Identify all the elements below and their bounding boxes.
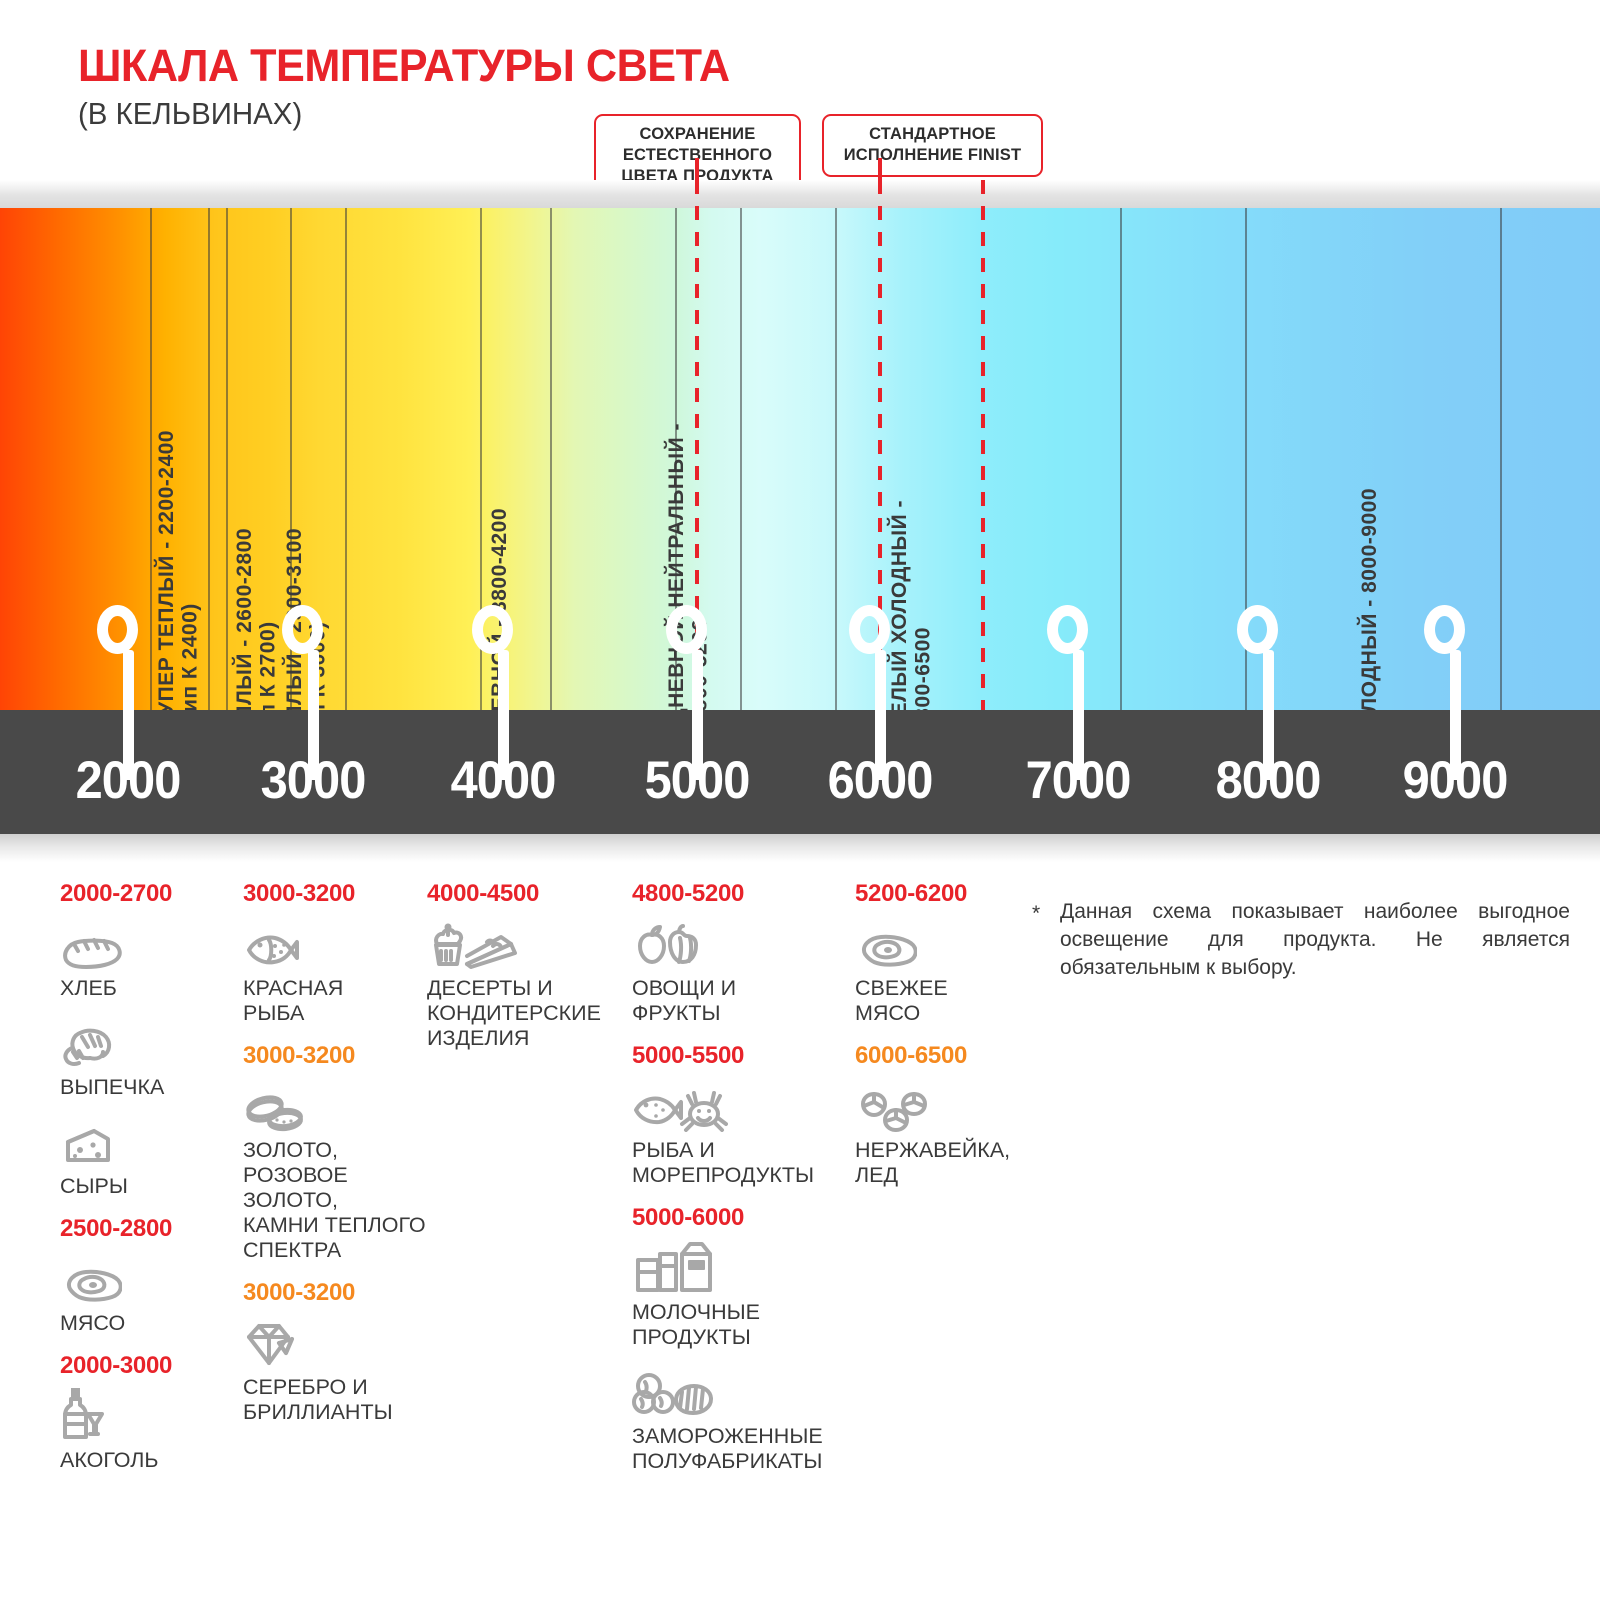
kelvin-range-label: 2000-2700 bbox=[60, 880, 240, 908]
product-label: НЕРЖАВЕЙКА, ЛЕД bbox=[855, 1138, 1045, 1188]
footnote-text: Данная схема показывает наиболее выгодно… bbox=[1060, 900, 1570, 979]
temperature-scale-band: СУПЕР ТЕПЛЫЙ - 2200-2400 (тип К 2400)ТЕП… bbox=[0, 180, 1600, 862]
diamond-icon bbox=[243, 1317, 433, 1369]
band-divider bbox=[1500, 208, 1502, 710]
legend-group: 3000-3200СЕРЕБРО И БРИЛЛИАНТЫ bbox=[243, 1279, 433, 1425]
band-divider bbox=[1120, 208, 1122, 710]
fish-seafood-icon bbox=[632, 1080, 850, 1132]
footnote: * Данная схема показывает наиболее выгод… bbox=[1060, 898, 1570, 982]
legend-group: 5200-6200СВЕЖЕЕ МЯСО bbox=[855, 880, 1045, 1026]
kelvin-range-label: 4000-4500 bbox=[427, 880, 627, 908]
legend-group: 2000-3000АКОГОЛЬ bbox=[60, 1352, 240, 1473]
croissant-icon bbox=[60, 1017, 240, 1069]
tick-label-3000: 3000 bbox=[249, 750, 378, 811]
kelvin-range-label: 2000-3000 bbox=[60, 1352, 240, 1380]
tick-label-6000: 6000 bbox=[816, 750, 945, 811]
product-legend: 2000-2700ХЛЕБВЫПЕЧКАСЫРЫ2500-2800МЯСО200… bbox=[0, 880, 1600, 1600]
product-label: ХЛЕБ bbox=[60, 976, 240, 1001]
kelvin-range-label: 4800-5200 bbox=[632, 880, 850, 908]
kelvin-range-label: 5200-6200 bbox=[855, 880, 1045, 908]
legend-group: 4800-5200ОВОЩИ И ФРУКТЫ bbox=[632, 880, 850, 1026]
legend-group: 2500-2800МЯСО bbox=[60, 1215, 240, 1336]
band-divider bbox=[208, 208, 210, 710]
tick-label-7000: 7000 bbox=[1014, 750, 1143, 811]
product-label: МОЛОЧНЫЕ ПРОДУКТЫ bbox=[632, 1300, 850, 1350]
tick-ring bbox=[1424, 605, 1465, 654]
product-label: АКОГОЛЬ bbox=[60, 1448, 240, 1473]
product-label: ДЕСЕРТЫ И КОНДИТЕРСКИЕ ИЗДЕЛИЯ bbox=[427, 976, 627, 1051]
product-label: ОВОЩИ И ФРУКТЫ bbox=[632, 976, 850, 1026]
tick-ring bbox=[282, 605, 323, 654]
product-label: СЕРЕБРО И БРИЛЛИАНТЫ bbox=[243, 1375, 433, 1425]
band-label-5: БЕЛЫЙ ХОЛОДНЫЙ - 5800-6500 bbox=[888, 500, 935, 732]
legend-column-4: 5200-6200СВЕЖЕЕ МЯСО6000-6500НЕРЖАВЕЙКА,… bbox=[855, 880, 1045, 1204]
legend-group: 5000-6000МОЛОЧНЫЕ ПРОДУКТЫЗАМОРОЖЕННЫЕ П… bbox=[632, 1204, 850, 1474]
legend-group: 2000-2700ХЛЕБВЫПЕЧКАСЫРЫ bbox=[60, 880, 240, 1199]
legend-column-2: 4000-4500ДЕСЕРТЫ И КОНДИТЕРСКИЕ ИЗДЕЛИЯ bbox=[427, 880, 627, 1067]
product-label: КРАСНАЯ РЫБА bbox=[243, 976, 433, 1026]
tick-ring bbox=[849, 605, 890, 654]
band-bottom-shadow bbox=[0, 834, 1600, 862]
legend-column-3: 4800-5200ОВОЩИ И ФРУКТЫ5000-5500РЫБА И М… bbox=[632, 880, 850, 1490]
ice-cubes-icon bbox=[855, 1080, 1045, 1132]
cheese-icon bbox=[60, 1116, 240, 1168]
tick-label-2000: 2000 bbox=[64, 750, 193, 811]
product-label: ЗАМОРОЖЕННЫЕ ПОЛУФАБРИКАТЫ bbox=[632, 1424, 850, 1474]
legend-group: 6000-6500НЕРЖАВЕЙКА, ЛЕД bbox=[855, 1042, 1045, 1188]
callout-connector bbox=[878, 158, 882, 182]
kelvin-range-label: 2500-2800 bbox=[60, 1215, 240, 1243]
kelvin-range-label: 5000-5500 bbox=[632, 1042, 850, 1070]
kelvin-range-label: 3000-3200 bbox=[243, 880, 433, 908]
frozen-food-icon bbox=[632, 1366, 850, 1418]
gold-rings-icon bbox=[243, 1080, 433, 1132]
product-label: ВЫПЕЧКА bbox=[60, 1075, 240, 1100]
band-label-0: СУПЕР ТЕПЛЫЙ - 2200-2400 (тип К 2400) bbox=[155, 430, 202, 730]
band-divider bbox=[226, 208, 228, 710]
red-fish-icon bbox=[243, 918, 433, 970]
band-divider bbox=[550, 208, 552, 710]
vegetables-fruits-icon bbox=[632, 918, 850, 970]
legend-column-0: 2000-2700ХЛЕБВЫПЕЧКАСЫРЫ2500-2800МЯСО200… bbox=[60, 880, 240, 1489]
tick-label-9000: 9000 bbox=[1391, 750, 1520, 811]
legend-group: 5000-5500РЫБА И МОРЕПРОДУКТЫ bbox=[632, 1042, 850, 1188]
product-label: СВЕЖЕЕ МЯСО bbox=[855, 976, 1045, 1026]
tick-label-5000: 5000 bbox=[633, 750, 762, 811]
meat-icon bbox=[60, 1253, 240, 1305]
tick-ring bbox=[1237, 605, 1278, 654]
product-label: МЯСО bbox=[60, 1311, 240, 1336]
band-divider bbox=[345, 208, 347, 710]
band-label-4: ДНЕВНОЙ НЕЙТРАЛЬНЫЙ - 4800-5200 bbox=[665, 423, 712, 723]
tick-label-8000: 8000 bbox=[1204, 750, 1333, 811]
legend-column-1: 3000-3200КРАСНАЯ РЫБА3000-3200ЗОЛОТО, РО… bbox=[243, 880, 433, 1440]
band-top-shadow bbox=[0, 180, 1600, 208]
dessert-icon bbox=[427, 918, 627, 970]
callout-finist-standard: СТАНДАРТНОЕ ИСПОЛНЕНИЕ FINIST bbox=[822, 114, 1043, 177]
callout-connector bbox=[695, 158, 699, 182]
product-label: РЫБА И МОРЕПРОДУКТЫ bbox=[632, 1138, 850, 1188]
tick-ring bbox=[97, 605, 138, 654]
legend-group: 4000-4500ДЕСЕРТЫ И КОНДИТЕРСКИЕ ИЗДЕЛИЯ bbox=[427, 880, 627, 1051]
band-divider bbox=[835, 208, 837, 710]
kelvin-range-label: 3000-3200 bbox=[243, 1042, 433, 1070]
band-label-6: ХОЛОДНЫЙ - 8000-9000 bbox=[1358, 488, 1382, 743]
tick-label-4000: 4000 bbox=[439, 750, 568, 811]
tick-ring bbox=[1047, 605, 1088, 654]
page-title: ШКАЛА ТЕМПЕРАТУРЫ СВЕТА bbox=[78, 40, 730, 92]
fresh-meat-icon bbox=[855, 918, 1045, 970]
kelvin-axis-bar bbox=[0, 710, 1600, 834]
legend-group: 3000-3200ЗОЛОТО, РОЗОВОЕ ЗОЛОТО, КАМНИ Т… bbox=[243, 1042, 433, 1263]
page-subtitle: (В КЕЛЬВИНАХ) bbox=[78, 96, 302, 132]
alcohol-icon bbox=[60, 1390, 240, 1442]
kelvin-range-label: 5000-6000 bbox=[632, 1204, 850, 1232]
footnote-marker: * bbox=[1032, 900, 1040, 928]
dairy-icon bbox=[632, 1242, 850, 1294]
tick-ring bbox=[472, 605, 513, 654]
kelvin-range-label: 6000-6500 bbox=[855, 1042, 1045, 1070]
infographic-root: ШКАЛА ТЕМПЕРАТУРЫ СВЕТА (В КЕЛЬВИНАХ) СО… bbox=[0, 0, 1600, 1600]
product-label: СЫРЫ bbox=[60, 1174, 240, 1199]
band-divider bbox=[150, 208, 152, 710]
band-divider bbox=[740, 208, 742, 710]
bread-icon bbox=[60, 918, 240, 970]
legend-group: 3000-3200КРАСНАЯ РЫБА bbox=[243, 880, 433, 1026]
product-label: ЗОЛОТО, РОЗОВОЕ ЗОЛОТО, КАМНИ ТЕПЛОГО СП… bbox=[243, 1138, 433, 1263]
tick-ring bbox=[666, 605, 707, 654]
kelvin-range-label: 3000-3200 bbox=[243, 1279, 433, 1307]
callout-dashed-line bbox=[981, 180, 985, 710]
